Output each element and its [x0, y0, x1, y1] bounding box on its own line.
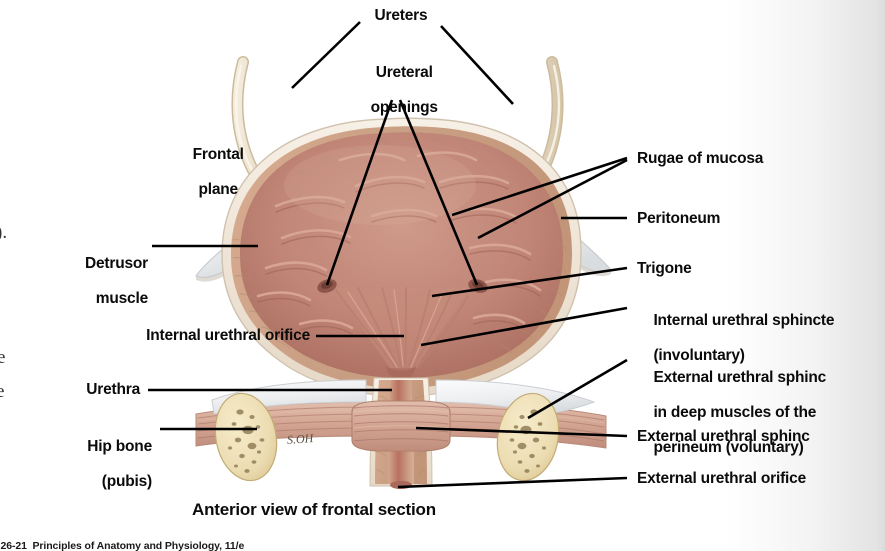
edge-text-fragment-top: ).	[0, 222, 7, 244]
label-hip-bone: Hip bone (pubis)	[32, 420, 152, 508]
label-ureteral-openings: Ureteral openings	[336, 46, 456, 134]
handwritten-initials: S.OH	[287, 431, 314, 448]
label-ureters: Ureters	[360, 7, 442, 25]
label-detrusor-muscle: Detrusor muscle	[40, 237, 148, 325]
label-external-urethral-orifice: External urethral orifice	[637, 470, 806, 488]
label-trigone: Trigone	[637, 260, 692, 278]
label-external-urethral-sphincter-deep: External urethral sphinc in deep muscles…	[637, 351, 826, 474]
external-urethral-sphincter	[352, 401, 450, 451]
label-internal-urethral-orifice: Internal urethral orifice	[48, 327, 310, 345]
label-rugae-of-mucosa: Rugae of mucosa	[637, 150, 763, 168]
label-external-urethral-sphincter: External urethral sphinc	[637, 428, 810, 446]
figure-source-caption: re 26-21 Principles of Anatomy and Physi…	[0, 540, 244, 551]
bladder-body	[222, 118, 581, 396]
edge-text-fragment-low: e	[0, 381, 4, 403]
edge-text-fragment-mid: e	[0, 347, 5, 369]
label-peritoneum: Peritoneum	[637, 210, 720, 228]
label-urethra: Urethra	[40, 381, 140, 399]
figure-caption: Anterior view of frontal section	[192, 500, 436, 520]
figure-page: ). e e Frontal plane Detrusor muscle Int…	[0, 0, 885, 551]
label-frontal-plane: Frontal plane	[155, 128, 265, 216]
